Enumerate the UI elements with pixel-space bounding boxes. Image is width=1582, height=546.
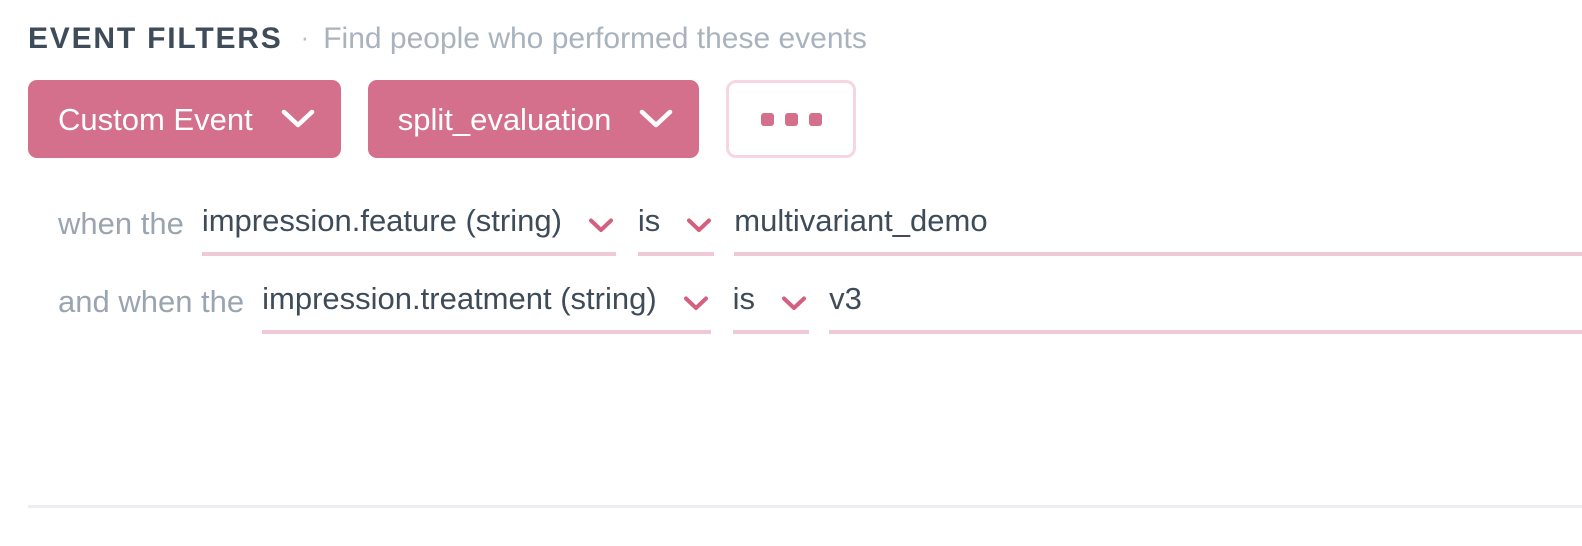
- event-type-label: Custom Event: [58, 104, 253, 135]
- filter-value-text: multivariant_demo: [734, 205, 987, 238]
- filter-property-select[interactable]: impression.feature (string): [202, 205, 616, 256]
- filter-operator-select[interactable]: is: [733, 283, 809, 334]
- chevron-down-icon: [639, 108, 673, 130]
- chevron-down-icon: [781, 295, 807, 316]
- filter-list: when the impression.feature (string) is: [0, 178, 1582, 334]
- filter-prefix: and when the: [58, 284, 244, 334]
- filter-row: and when the impression.treatment (strin…: [0, 256, 1582, 334]
- event-filters-panel: EVENT FILTERS · Find people who performe…: [0, 0, 1582, 546]
- chevron-down-icon: [281, 108, 315, 130]
- filter-row: when the impression.feature (string) is: [0, 178, 1582, 256]
- chevron-down-icon: [686, 217, 712, 238]
- filter-operator-select[interactable]: is: [638, 205, 714, 256]
- filter-operator-value: is: [733, 283, 755, 316]
- filter-operator-value: is: [638, 205, 660, 238]
- event-name-label: split_evaluation: [398, 104, 612, 135]
- chevron-down-icon: [683, 295, 709, 316]
- filter-value-input[interactable]: multivariant_demo: [734, 205, 1582, 256]
- more-options-button[interactable]: [726, 80, 856, 158]
- event-selector-row: Custom Event split_evaluation: [0, 80, 1582, 158]
- filter-property-select[interactable]: impression.treatment (string): [262, 283, 711, 334]
- ellipsis-icon: [761, 113, 822, 126]
- filter-property-value: impression.treatment (string): [262, 283, 657, 316]
- section-subtitle: Find people who performed these events: [323, 22, 867, 56]
- event-name-pill[interactable]: split_evaluation: [368, 80, 700, 158]
- filter-prefix: when the: [58, 206, 184, 256]
- header-separator-dot: ·: [301, 24, 310, 50]
- filter-value-input[interactable]: v3: [829, 283, 1582, 334]
- event-type-pill[interactable]: Custom Event: [28, 80, 341, 158]
- section-header: EVENT FILTERS · Find people who performe…: [0, 0, 1582, 50]
- section-divider: [28, 505, 1582, 508]
- page-title: EVENT FILTERS: [28, 22, 283, 56]
- filter-property-value: impression.feature (string): [202, 205, 562, 238]
- chevron-down-icon: [588, 217, 614, 238]
- filter-value-text: v3: [829, 283, 862, 316]
